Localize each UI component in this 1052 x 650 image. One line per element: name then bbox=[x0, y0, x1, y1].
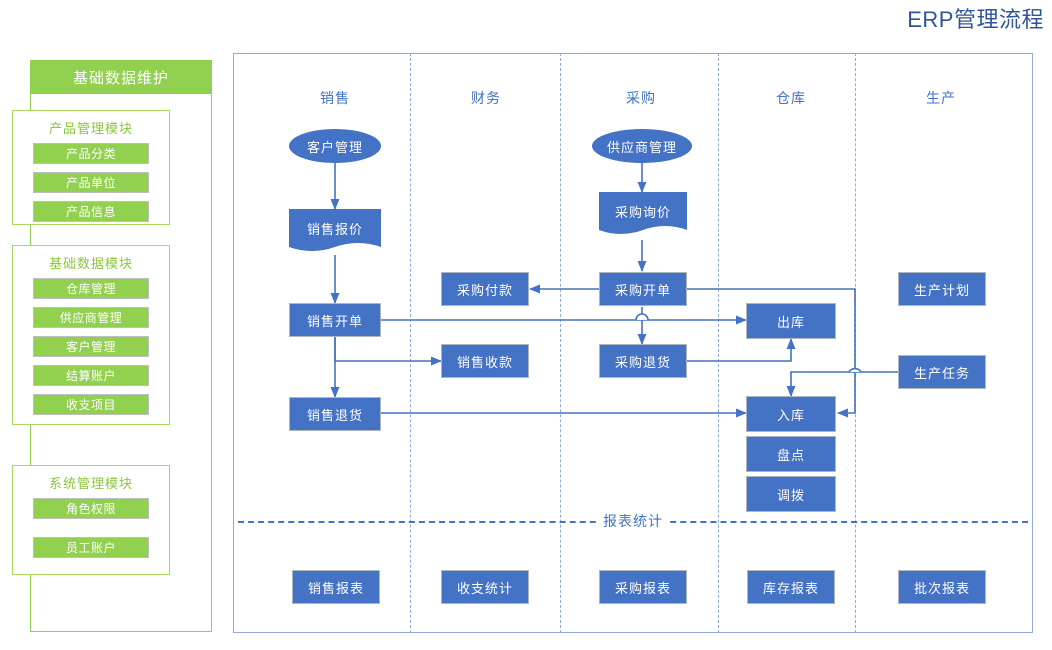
node-stock-transfer[interactable]: 调拨 bbox=[746, 476, 836, 512]
sidebar-item-employee-account[interactable]: 员工账户 bbox=[33, 537, 149, 558]
report-section-label: 报表统计 bbox=[597, 511, 669, 531]
node-purchase-order[interactable]: 采购开单 bbox=[599, 272, 687, 306]
node-supplier-mgmt[interactable]: 供应商管理 bbox=[592, 129, 692, 163]
sidebar-item-warehouse-mgmt[interactable]: 仓库管理 bbox=[33, 278, 149, 299]
lane-header-production: 生产 bbox=[926, 88, 956, 108]
node-sales-return[interactable]: 销售退货 bbox=[289, 397, 381, 431]
sidebar-group-product: 产品管理模块 产品分类 产品单位 产品信息 bbox=[12, 110, 170, 225]
node-income-expense-report[interactable]: 收支统计 bbox=[441, 570, 529, 604]
sidebar-item-customer-mgmt[interactable]: 客户管理 bbox=[33, 336, 149, 357]
node-production-task[interactable]: 生产任务 bbox=[898, 355, 986, 389]
sidebar-group-title: 基础数据模块 bbox=[13, 253, 169, 272]
node-stock-out[interactable]: 出库 bbox=[746, 303, 836, 339]
sidebar-item-role-permission[interactable]: 角色权限 bbox=[33, 498, 149, 519]
lane-header-purchase: 采购 bbox=[626, 88, 656, 108]
node-purchase-payment[interactable]: 采购付款 bbox=[441, 272, 529, 306]
node-purchase-inquiry[interactable]: 采购询价 bbox=[599, 192, 687, 240]
sidebar-item-supplier-mgmt[interactable]: 供应商管理 bbox=[33, 307, 149, 328]
sidebar-item-product-category[interactable]: 产品分类 bbox=[33, 143, 149, 164]
lane-divider-3 bbox=[718, 53, 719, 633]
sidebar-header: 基础数据维护 bbox=[30, 60, 212, 94]
node-sales-receipt[interactable]: 销售收款 bbox=[441, 344, 529, 378]
node-stock-check[interactable]: 盘点 bbox=[746, 436, 836, 472]
node-customer-mgmt[interactable]: 客户管理 bbox=[289, 129, 381, 163]
node-purchase-report[interactable]: 采购报表 bbox=[599, 570, 687, 604]
node-sales-quote[interactable]: 销售报价 bbox=[289, 209, 381, 255]
sidebar-item-product-unit[interactable]: 产品单位 bbox=[33, 172, 149, 193]
erp-flowchart-page: ERP管理流程 基础数据维护 产品管理模块 产品分类 产品单位 产品信息 基础数… bbox=[0, 0, 1052, 650]
page-title: ERP管理流程 bbox=[907, 2, 1044, 34]
node-batch-report[interactable]: 批次报表 bbox=[898, 570, 986, 604]
sidebar-group-title: 系统管理模块 bbox=[13, 473, 169, 492]
node-stock-in[interactable]: 入库 bbox=[746, 396, 836, 432]
node-label: 采购询价 bbox=[599, 202, 687, 221]
node-production-plan[interactable]: 生产计划 bbox=[898, 272, 986, 306]
sidebar-group-basedata: 基础数据模块 仓库管理 供应商管理 客户管理 结算账户 收支项目 bbox=[12, 245, 170, 425]
lane-header-warehouse: 仓库 bbox=[776, 88, 806, 108]
lane-divider-2 bbox=[560, 53, 561, 633]
node-sales-report[interactable]: 销售报表 bbox=[292, 570, 380, 604]
node-label: 销售报价 bbox=[289, 219, 381, 238]
sidebar-item-settlement-account[interactable]: 结算账户 bbox=[33, 365, 149, 386]
sidebar-item-income-expense[interactable]: 收支项目 bbox=[33, 394, 149, 415]
lane-divider-1 bbox=[410, 53, 411, 633]
sidebar-item-product-info[interactable]: 产品信息 bbox=[33, 201, 149, 222]
node-inventory-report[interactable]: 库存报表 bbox=[747, 570, 835, 604]
sidebar-group-system: 系统管理模块 角色权限 员工账户 bbox=[12, 465, 170, 575]
lane-header-sales: 销售 bbox=[320, 88, 350, 108]
lane-divider-4 bbox=[855, 53, 856, 633]
node-purchase-return[interactable]: 采购退货 bbox=[599, 344, 687, 378]
node-sales-order[interactable]: 销售开单 bbox=[289, 303, 381, 337]
sidebar-group-title: 产品管理模块 bbox=[13, 118, 169, 137]
lane-header-finance: 财务 bbox=[471, 88, 501, 108]
